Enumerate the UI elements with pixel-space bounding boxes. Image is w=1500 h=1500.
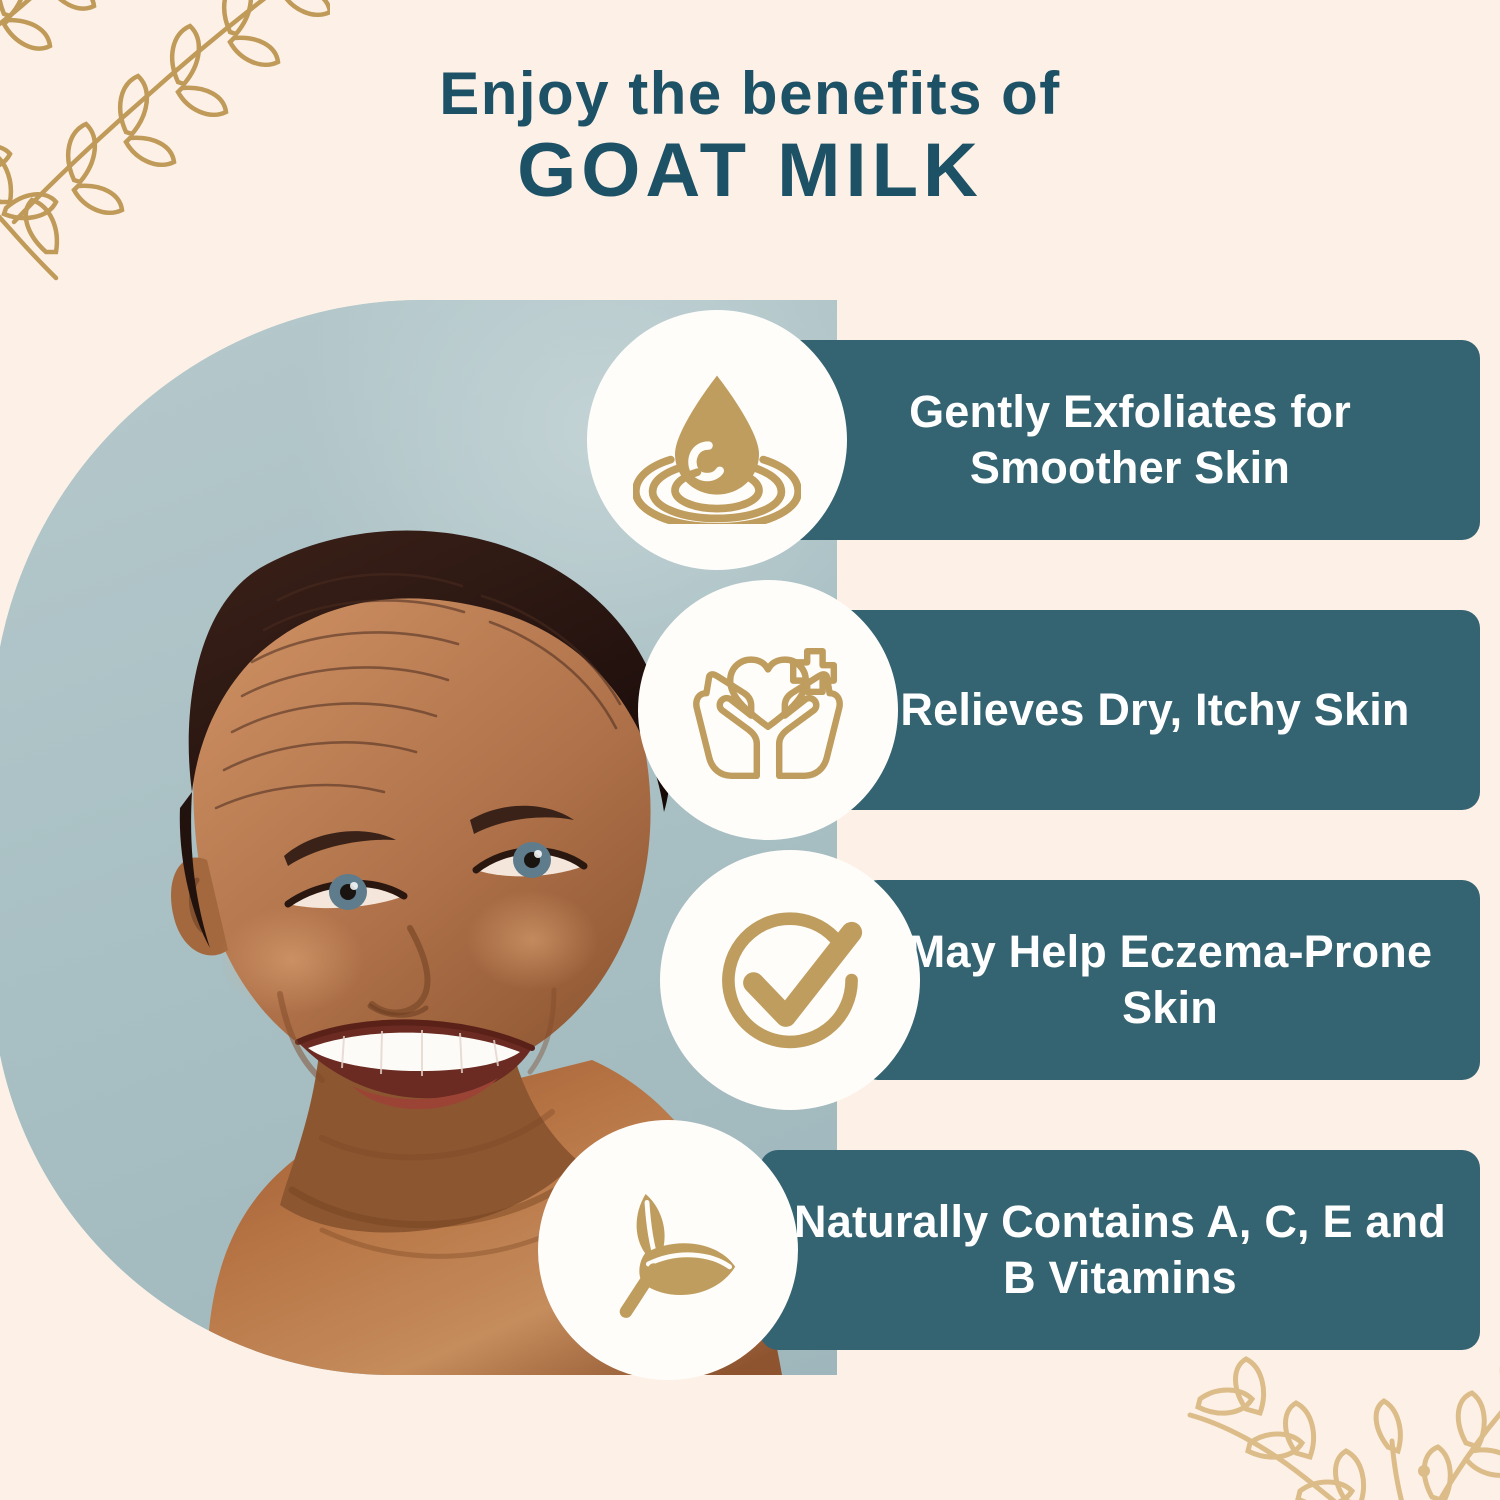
page-title-line-1: Enjoy the benefits of — [0, 62, 1500, 126]
benefit-card[interactable]: Relieves Dry, Itchy Skin — [830, 610, 1480, 810]
page-title-line-2: GOAT MILK — [0, 126, 1500, 216]
check-circle-icon — [706, 896, 874, 1064]
infographic-canvas: Enjoy the benefits of GOAT MILK — [0, 0, 1500, 1500]
benefit-row: Naturally Contains A, C, E and B Vitamin… — [0, 1150, 1500, 1350]
heart-in-hands-icon — [684, 626, 852, 794]
benefit-row: Relieves Dry, Itchy Skin — [0, 610, 1500, 810]
benefit-label: Naturally Contains A, C, E and B Vitamin… — [760, 1194, 1480, 1307]
page-title-block: Enjoy the benefits of GOAT MILK — [0, 62, 1500, 215]
benefit-card[interactable]: Gently Exfoliates for Smoother Skin — [780, 340, 1480, 540]
benefit-row: Gently Exfoliates for Smoother Skin — [0, 340, 1500, 540]
benefit-label: Gently Exfoliates for Smoother Skin — [780, 384, 1480, 497]
leaf-sprig-icon — [584, 1166, 752, 1334]
water-droplet-ripple-icon — [633, 356, 801, 524]
benefit-icon-circle — [638, 580, 898, 840]
benefit-label: Relieves Dry, Itchy Skin — [830, 682, 1480, 738]
benefit-icon-circle — [660, 850, 920, 1110]
benefit-icon-circle — [538, 1120, 798, 1380]
benefit-card[interactable]: Naturally Contains A, C, E and B Vitamin… — [760, 1150, 1480, 1350]
benefit-icon-circle — [587, 310, 847, 570]
benefit-row: May Help Eczema-Prone Skin — [0, 880, 1500, 1080]
benefit-label: May Help Eczema-Prone Skin — [860, 924, 1480, 1037]
benefit-card[interactable]: May Help Eczema-Prone Skin — [860, 880, 1480, 1080]
